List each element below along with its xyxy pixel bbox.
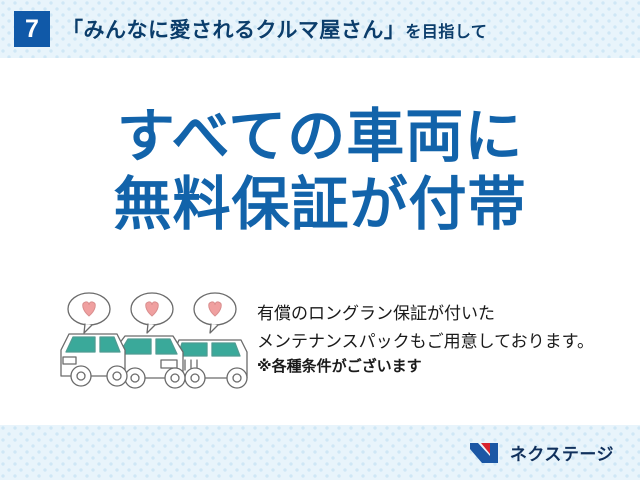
headline-line-1: すべての車両に (0, 102, 640, 170)
advertisement-banner: 7 「みんなに愛されるクルマ屋さん」を目指して すべての車両に 無料保証が付帯 (0, 0, 640, 480)
description-text: 有償のロングラン保証が付いた メンテナンスパックもご用意しております。 ※各種条… (257, 300, 632, 379)
description-line-1: 有償のロングラン保証が付いた (257, 300, 632, 328)
car-illustration-svg (55, 290, 250, 395)
car-illustration (55, 290, 250, 395)
headline: すべての車両に 無料保証が付帯 (0, 102, 640, 239)
illustration-and-copy-row: 有償のロングラン保証が付いた メンテナンスパックもご用意しております。 ※各種条… (0, 290, 640, 410)
car-kei-wagon (61, 334, 127, 386)
brand-name: ネクステージ (510, 440, 614, 465)
headline-line-2: 無料保証が付帯 (0, 170, 640, 238)
description-line-2: メンテナンスパックもご用意しております。 (257, 328, 632, 356)
heart-bubble-2 (131, 293, 173, 333)
heart-bubble-3 (194, 293, 236, 333)
header-title-main: 「みんなに愛されるクルマ屋さん」 (62, 19, 405, 42)
header-title: 「みんなに愛されるクルマ屋さん」を目指して (62, 14, 487, 44)
main-content: すべての車両に 無料保証が付帯 (0, 58, 640, 425)
description-note: ※各種条件がございます (257, 355, 632, 379)
nextage-n-icon (469, 441, 503, 465)
heart-bubble-1 (68, 293, 110, 333)
footer-band: ネクステージ (0, 425, 640, 480)
header-title-suffix: を目指して (405, 24, 487, 41)
step-number-badge: 7 (14, 11, 50, 47)
brand-logo: ネクステージ (469, 440, 614, 465)
header-band: 7 「みんなに愛されるクルマ屋さん」を目指して (0, 0, 640, 58)
